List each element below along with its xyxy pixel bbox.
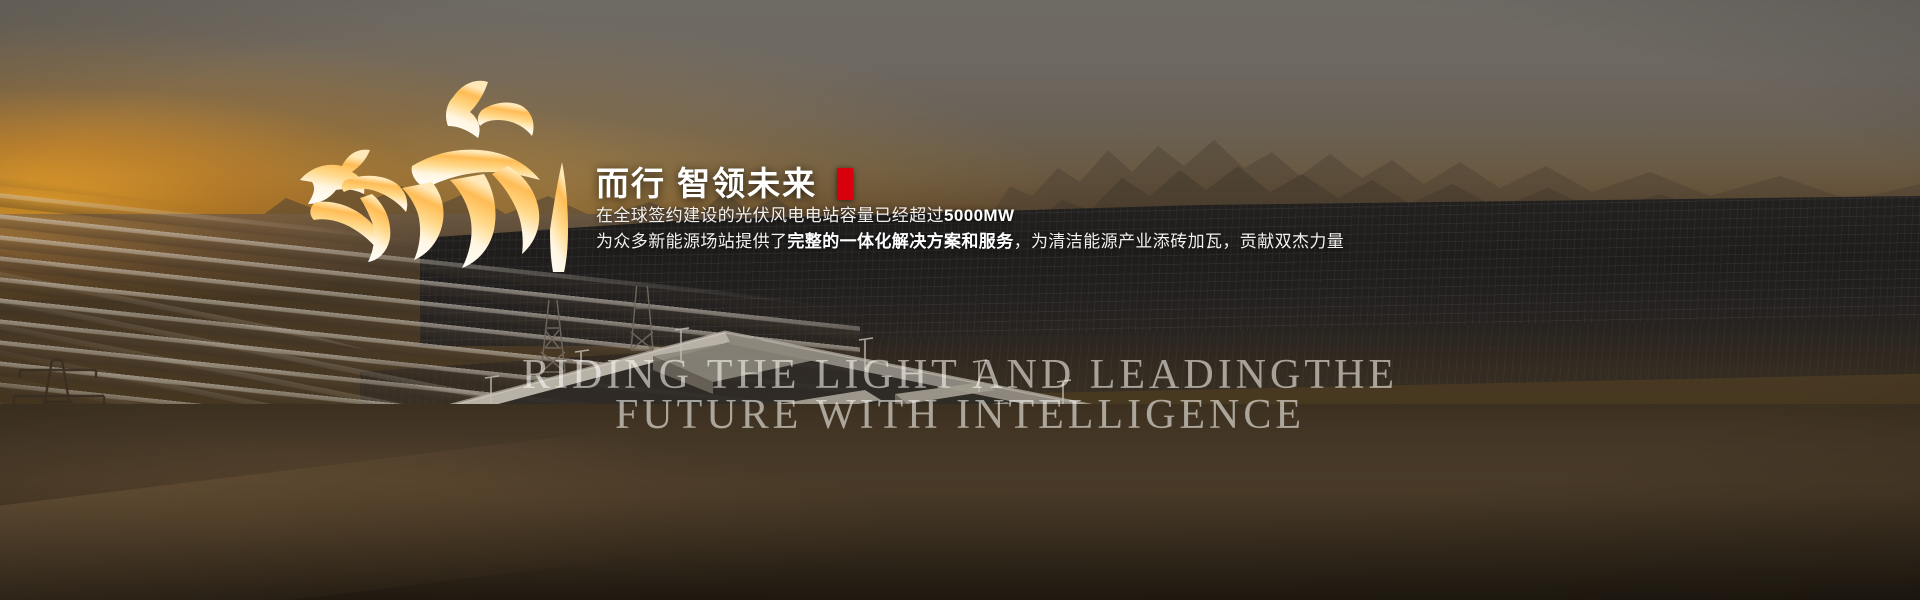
english-slogan-line-2: FUTURE WITH INTELLIGENCE: [0, 391, 1920, 439]
hero-subline-1: 在全球签约建设的光伏风电电站容量已经超过5000MW: [596, 203, 1356, 229]
hero-headline: 而行 智领未来: [596, 166, 1356, 203]
headline-text: 而行 智领未来: [596, 166, 817, 203]
calligraphy-yuguang: [286, 62, 606, 272]
red-accent-block: [837, 168, 853, 200]
hero-banner: 而行 智领未来 在全球签约建设的光伏风电电站容量已经超过5000MW 为众多新能…: [0, 0, 1920, 600]
hero-subline-2: 为众多新能源场站提供了完整的一体化解决方案和服务，为清洁能源产业添砖加瓦，贡献双…: [596, 229, 1356, 255]
subline-2-suffix: ，为清洁能源产业添砖加瓦，贡献双杰力量: [1014, 232, 1345, 251]
subline-2-strong: 完整的一体化解决方案和服务: [787, 232, 1013, 251]
hero-text-block: 而行 智领未来 在全球签约建设的光伏风电电站容量已经超过5000MW 为众多新能…: [596, 166, 1356, 256]
subline-2-prefix: 为众多新能源场站提供了: [596, 232, 787, 251]
subline-1-prefix: 在全球签约建设的光伏风电电站容量已经超过: [596, 206, 944, 225]
subline-1-strong: 5000MW: [944, 206, 1014, 225]
